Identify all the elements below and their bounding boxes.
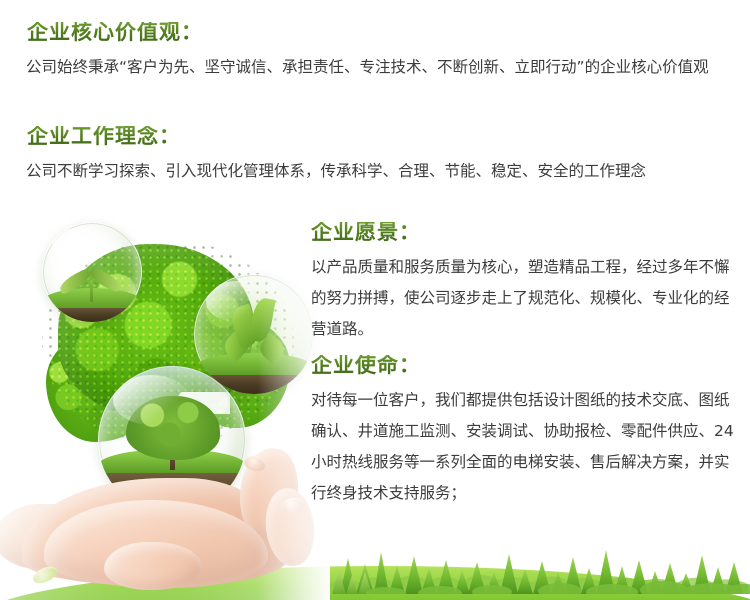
sprout-stem	[90, 280, 93, 302]
hands-holding-eco-spheres-photo	[8, 212, 320, 600]
sphere-soil	[194, 372, 314, 394]
company-culture-banner: 企业核心价值观： 公司始终秉承“客户为先、坚守诚信、承担责任、专注技术、不断创新…	[0, 0, 750, 600]
middle-finger	[104, 542, 202, 590]
heading-mission: 企业使命：	[311, 355, 421, 376]
cupped-hands	[8, 392, 320, 600]
sphere-seedling-icon	[194, 274, 314, 394]
sphere-grass	[194, 353, 314, 375]
paragraph-vision: 以产品质量和服务质量为核心，塑造精品工程，经过多年不懈的努力拼搏，使公司逐步走上…	[311, 252, 735, 345]
paragraph-work-philosophy: 公司不断学习探索、引入现代化管理体系，传承科学、合理、节能、稳定、安全的工作理念	[26, 156, 741, 187]
heading-vision: 企业愿景：	[311, 222, 421, 243]
paragraph-mission: 对待每一位客户，我们都提供包括设计图纸的技术交底、图纸确认、井道施工监测、安装调…	[311, 385, 735, 509]
heading-work-philosophy: 企业工作理念：	[27, 126, 181, 147]
heading-core-values: 企业核心价值观：	[27, 22, 203, 43]
sphere-sprout-icon	[42, 222, 142, 322]
sphere-soil	[42, 306, 142, 322]
paragraph-core-values: 公司始终秉承“客户为先、坚守诚信、承担责任、专注技术、不断创新、立即行动”的企业…	[26, 52, 741, 83]
